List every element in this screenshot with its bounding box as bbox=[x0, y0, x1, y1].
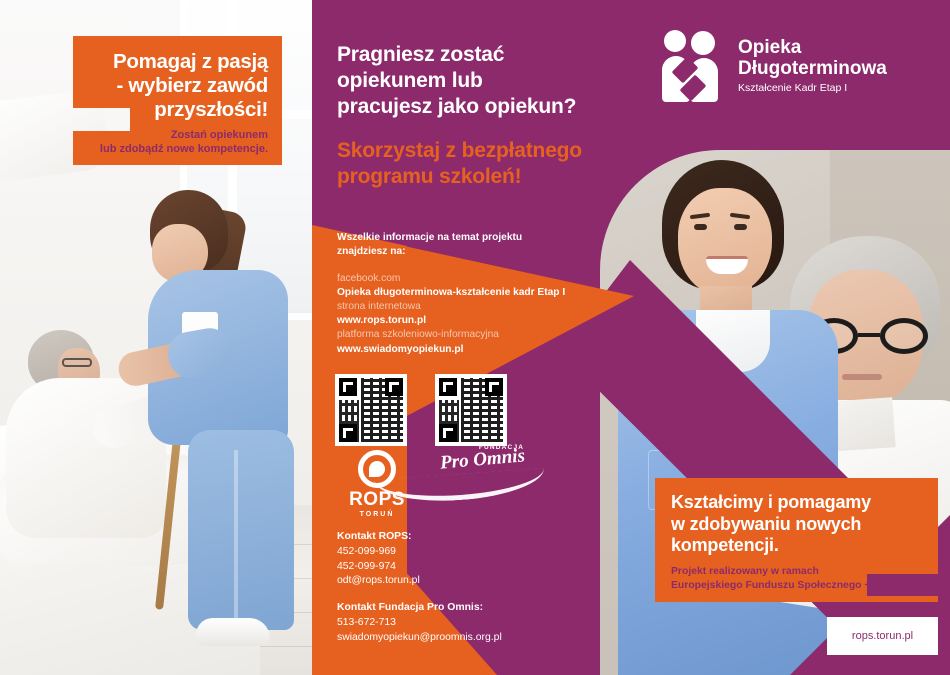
info-website-label: strona internetowa bbox=[337, 300, 587, 314]
center-heading-line-3: pracujesz jako opiekun? bbox=[337, 94, 637, 120]
contact-rops-phone-1[interactable]: 452-099-969 bbox=[337, 545, 567, 560]
qr-finder-top-right bbox=[485, 378, 503, 396]
rops-city-label: TORUŃ bbox=[340, 511, 414, 518]
qr-code-group bbox=[335, 374, 507, 446]
project-info-block: Wszelkie informacje na temat projektu zn… bbox=[337, 231, 587, 357]
center-offer-heading: Skorzystaj z bezpłatnego programu szkole… bbox=[337, 138, 637, 190]
contact-proomnis-email[interactable]: swiadomyopiekun@proomnis.org.pl bbox=[337, 631, 567, 646]
logo-head-right bbox=[691, 31, 715, 55]
cta-heading: Kształcimy i pomagamy w zdobywaniu nowyc… bbox=[671, 492, 922, 557]
contact-rops-email[interactable]: odt@rops.torun.pl bbox=[337, 574, 567, 589]
brand-line-1: Opieka bbox=[738, 38, 887, 59]
qr-finder-top-left bbox=[339, 378, 357, 396]
nurse-smile bbox=[706, 256, 748, 274]
left-headline-line-2: - wybierz zawód bbox=[87, 74, 268, 98]
center-heading-line-2: opiekunem lub bbox=[337, 68, 637, 94]
contact-proomnis-title: Kontakt Fundacja Pro Omnis: bbox=[337, 601, 567, 616]
pro-omnis-logo: FUNDACJA Pro Omnis bbox=[425, 444, 540, 469]
contacts-block: Kontakt ROPS: 452-099-969 452-099-974 od… bbox=[337, 530, 567, 645]
cta-heading-line-2: w zdobywaniu nowych bbox=[671, 514, 922, 536]
center-question-heading: Pragniesz zostać opiekunem lub pracujesz… bbox=[337, 42, 637, 120]
cta-purple-notch bbox=[867, 574, 938, 598]
qr-code-rops[interactable] bbox=[335, 374, 407, 446]
nurse-eye-left bbox=[694, 224, 707, 230]
left-subline-line-1: Zostań opiekunem bbox=[87, 129, 268, 143]
info-platform-label: platforma szkoleniowo-informacyjna bbox=[337, 328, 587, 342]
info-platform-value[interactable]: www.swiadomyopiekun.pl bbox=[337, 343, 587, 357]
cta-heading-line-1: Kształcimy i pomagamy bbox=[671, 492, 922, 514]
qr-finder-top-right bbox=[385, 378, 403, 396]
brand-line-2: Długoterminowa bbox=[738, 59, 887, 80]
qr-code-pro-omnis[interactable] bbox=[435, 374, 507, 446]
brand-line-3: Kształcenie Kadr Etap I bbox=[738, 82, 887, 94]
brand-logo: Opieka Długoterminowa Kształcenie Kadr E… bbox=[662, 30, 887, 102]
caregiver-shoe bbox=[196, 618, 270, 646]
info-facebook-label: facebook.com bbox=[337, 272, 587, 286]
flyer-canvas: Pomagaj z pasją - wybierz zawód przyszło… bbox=[0, 0, 950, 675]
qr-finder-bottom-left bbox=[339, 424, 357, 442]
center-offer-line-2: programu szkoleń! bbox=[337, 164, 637, 190]
contact-rops-phone-2[interactable]: 452-099-974 bbox=[337, 560, 567, 575]
left-subline-text: Zostań opiekunem lub zdobądź nowe kompet… bbox=[87, 129, 268, 157]
left-subline-line-2: lub zdobądź nowe kompetencje. bbox=[87, 143, 268, 157]
nurse-face bbox=[678, 188, 772, 296]
center-heading-line-1: Pragniesz zostać bbox=[337, 42, 637, 68]
url-box[interactable]: rops.torun.pl bbox=[827, 617, 938, 655]
two-people-logo-icon bbox=[662, 30, 724, 102]
info-intro-line-1: Wszelkie informacje na temat projektu bbox=[337, 231, 587, 245]
info-website-value[interactable]: www.rops.torun.pl bbox=[337, 314, 587, 328]
caregiver-trousers bbox=[188, 430, 294, 630]
center-offer-line-1: Skorzystaj z bezpłatnego bbox=[337, 138, 637, 164]
qr-finder-bottom-left bbox=[439, 424, 457, 442]
cta-heading-line-3: kompetencji. bbox=[671, 535, 922, 557]
nurse-eye-right bbox=[734, 224, 747, 230]
center-headline: Pragniesz zostać opiekunem lub pracujesz… bbox=[337, 42, 637, 190]
patient-glasses-icon bbox=[62, 358, 92, 367]
logo-s-cut bbox=[674, 60, 708, 100]
info-intro-line-2: znajdziesz na: bbox=[337, 245, 587, 259]
logo-head-left bbox=[664, 30, 686, 52]
info-facebook-value[interactable]: Opieka długoterminowa-kształcenie kadr E… bbox=[337, 286, 587, 300]
url-text: rops.torun.pl bbox=[852, 630, 913, 642]
contact-proomnis-phone[interactable]: 513-672-713 bbox=[337, 616, 567, 631]
contact-rops-title: Kontakt ROPS: bbox=[337, 530, 567, 545]
left-headline-line-1: Pomagaj z pasją bbox=[87, 50, 268, 74]
senior-mouth bbox=[842, 374, 882, 380]
qr-finder-top-left bbox=[439, 378, 457, 396]
left-headline-box: Pomagaj z pasją - wybierz zawód przyszło… bbox=[73, 36, 282, 168]
brand-text: Opieka Długoterminowa Kształcenie Kadr E… bbox=[738, 38, 887, 94]
